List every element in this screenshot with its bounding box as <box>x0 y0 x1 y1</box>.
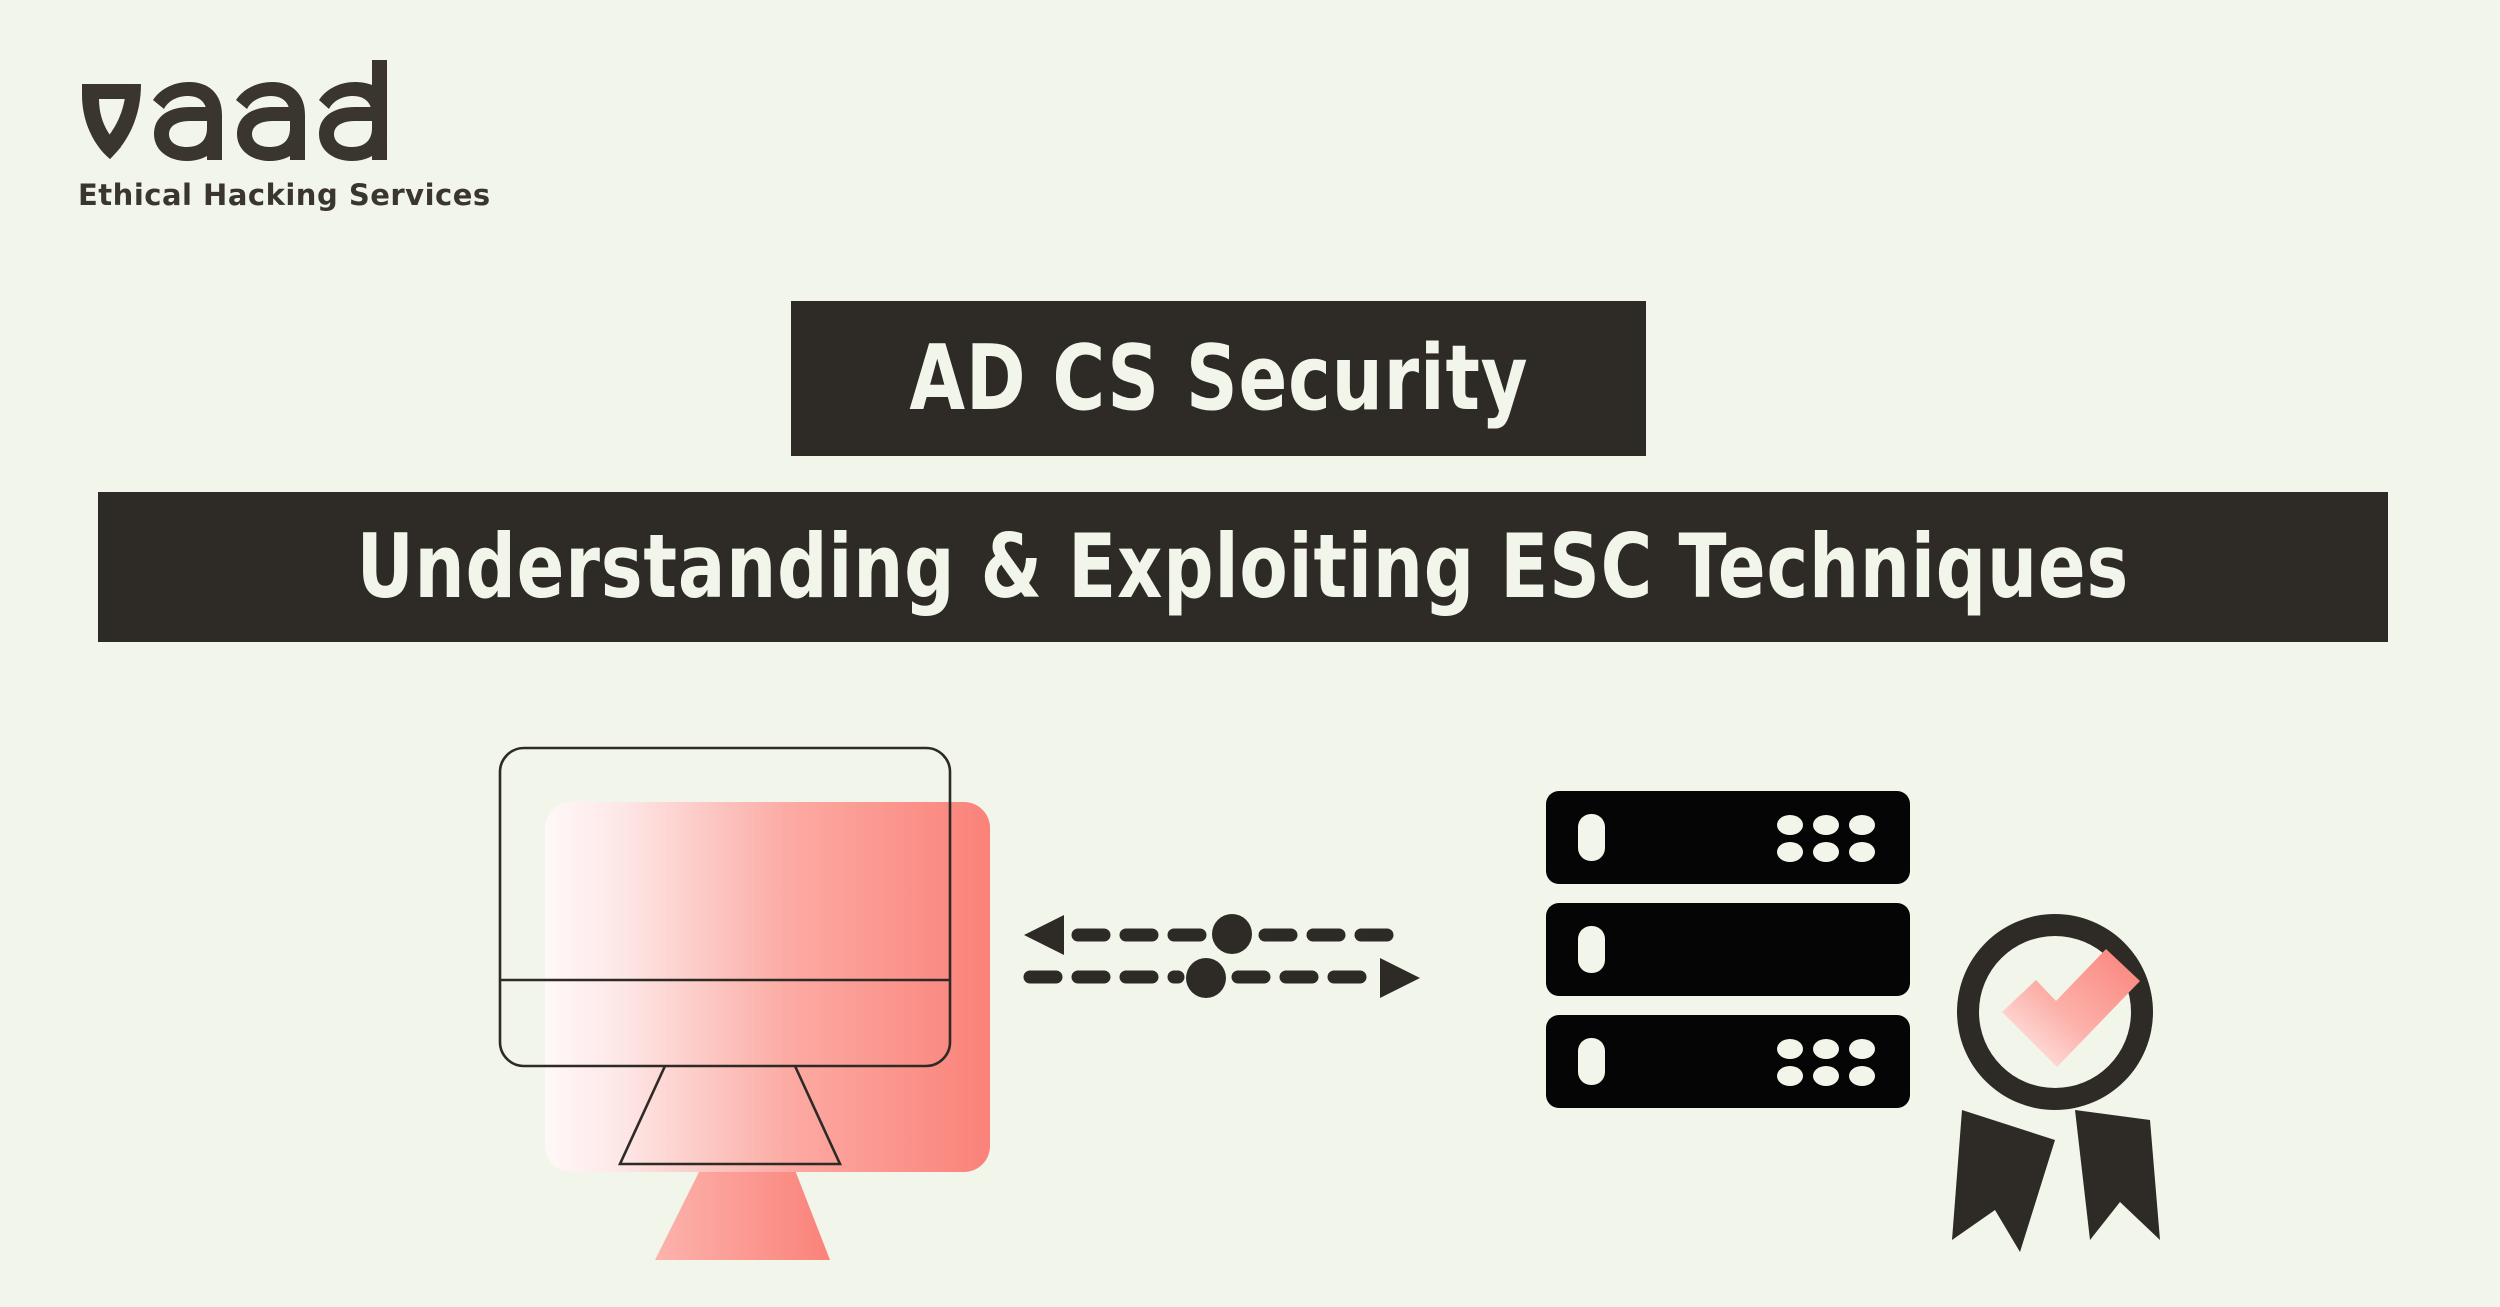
logo-tagline: Ethical Hacking Services <box>78 178 498 212</box>
dashed-line-top <box>1024 914 1400 955</box>
dashed-line-bottom <box>1030 958 1420 998</box>
title-bar-primary: AD CS Security <box>791 301 1646 456</box>
brand-logo[interactable]: Ethical Hacking Services <box>78 58 498 212</box>
monitor-fill-layer <box>545 802 990 1260</box>
server-unit-1 <box>1546 791 1910 884</box>
page-subtitle: Understanding & Exploiting ESC Technique… <box>357 523 2130 611</box>
vaadata-wordmark-icon <box>78 58 438 168</box>
server-unit-2 <box>1546 903 1910 996</box>
bidirectional-dashed-link <box>1024 914 1420 998</box>
ribbon-tail-right <box>2075 1110 2160 1240</box>
title-bar-secondary: Understanding & Exploiting ESC Technique… <box>98 492 2388 642</box>
hero-illustration <box>0 740 2500 1260</box>
certificate-authority-servers <box>1546 791 1910 1108</box>
slide-canvas: Ethical Hacking Services AD CS Security … <box>0 0 2500 1307</box>
link-node-bottom <box>1186 958 1226 998</box>
page-title: AD CS Security <box>909 334 1528 424</box>
link-node-top <box>1212 914 1252 954</box>
illustration-canvas <box>0 740 2500 1260</box>
server-unit-3 <box>1546 1015 1910 1108</box>
certificate-validated-badge <box>1952 914 2160 1252</box>
ribbon-tail-left <box>1952 1110 2055 1252</box>
